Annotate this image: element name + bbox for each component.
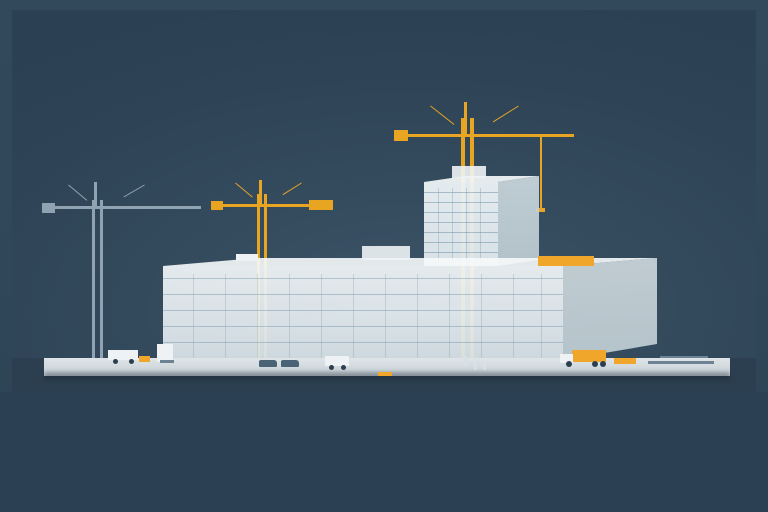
material-bar-left <box>160 360 174 363</box>
podium-front-face <box>163 266 563 360</box>
tower-front-face <box>424 182 498 266</box>
crane-mast-2 <box>100 200 103 366</box>
crane-cable-back <box>235 183 252 198</box>
parked-car-1 <box>259 360 277 367</box>
van-wheel <box>329 365 334 370</box>
crane-cable-front <box>493 106 519 123</box>
tower-side-face <box>498 176 539 266</box>
tower-roof-box <box>452 166 486 178</box>
orange-slab-right <box>538 256 594 266</box>
crane-counterweight <box>394 130 408 141</box>
van-body <box>325 356 349 366</box>
truck-wheel <box>129 359 134 364</box>
podium-side-face <box>563 258 657 360</box>
van-wheel <box>341 365 346 370</box>
material-stack-left <box>139 356 150 362</box>
crane-cable-front <box>123 185 144 198</box>
truck-wheel <box>600 361 606 367</box>
podium-roof-box-small <box>236 254 258 261</box>
worker-3 <box>483 362 486 370</box>
crane-counterweight <box>42 203 55 213</box>
material-stack-right <box>614 358 636 364</box>
crane-apex <box>464 102 467 136</box>
worker-2 <box>474 362 477 370</box>
orange-dump-truck <box>560 350 612 370</box>
site-van-center <box>325 356 357 370</box>
truck-wheel <box>592 361 598 367</box>
truck-wheel <box>113 359 118 364</box>
crane-jib <box>97 206 201 209</box>
crane-cable-back <box>430 106 454 125</box>
caption-panel: BIM model BIM modeling The parallels mod… <box>0 392 768 512</box>
crane-jib-head <box>309 200 333 210</box>
crane-counterweight <box>211 201 223 210</box>
crane-cable-back <box>68 185 87 201</box>
crane-mast <box>92 200 95 366</box>
crane-hoist-line <box>540 136 542 210</box>
worker-1 <box>464 356 467 366</box>
glass-tower-building <box>424 176 539 266</box>
truck-bed <box>572 350 606 362</box>
parked-car-2 <box>281 360 299 367</box>
glass-podium-building <box>163 258 657 360</box>
truck-cab <box>108 350 138 360</box>
material-bar-right <box>648 361 714 364</box>
crane-apex <box>259 180 262 206</box>
material-stack-center <box>378 372 392 376</box>
crane-jib <box>466 134 574 137</box>
crane-cable-front <box>283 183 302 196</box>
crane-apex <box>94 182 97 208</box>
illustration-canvas: BIM model BIM modeling The parallels mod… <box>0 0 768 512</box>
podium-roof-box-left <box>362 246 410 260</box>
material-bar-right-2 <box>660 356 708 358</box>
truck-wheel <box>566 361 572 367</box>
